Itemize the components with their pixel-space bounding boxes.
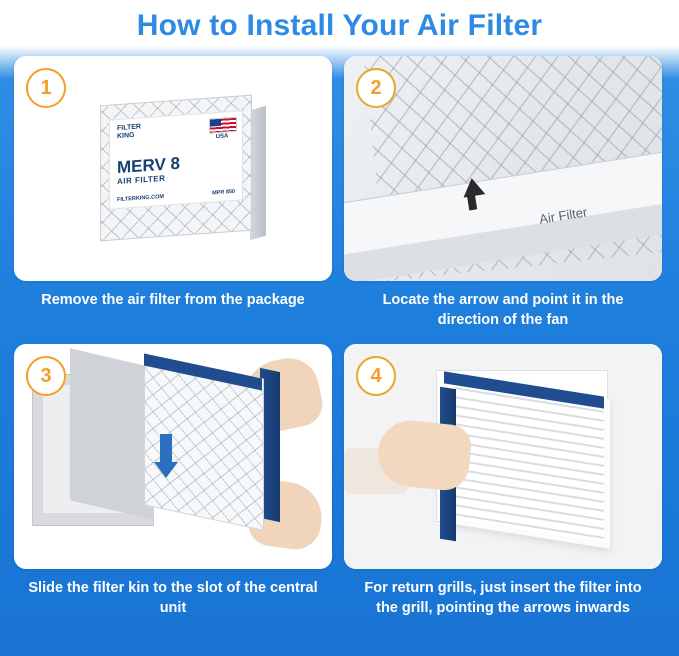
step-1-card: 1 FILTER KING	[14, 56, 332, 281]
step-3-caption: Slide the filter kin to the slot of the …	[23, 578, 323, 618]
step-1-badge: 1	[26, 68, 66, 108]
mpr-text: MPR 850	[212, 189, 235, 197]
usa-flag-block: USA	[209, 117, 235, 142]
merv-block: MERV 8 AIR FILTER	[117, 151, 235, 186]
step-3-badge: 3	[26, 356, 66, 396]
step-4-card: 4	[344, 344, 662, 569]
step-4-badge: 4	[356, 356, 396, 396]
step-1: 1 FILTER KING	[14, 56, 332, 330]
step-2-caption: Locate the arrow and point it in the dir…	[353, 290, 653, 330]
step-3-card: 3	[14, 344, 332, 569]
filter-label: FILTER KING USA MERV 8 AIR FILTE	[109, 110, 243, 209]
website-text: FILTERKING.COM	[117, 194, 164, 203]
filter-box: FILTER KING USA MERV 8 AIR FILTE	[100, 95, 252, 242]
page-title: How to Install Your Air Filter	[0, 0, 679, 46]
step-1-caption: Remove the air filter from the package	[23, 290, 323, 310]
step-4: 4 For return grills, just insert the fil…	[344, 344, 662, 618]
flag-icon	[209, 117, 237, 134]
filter-side-panel	[250, 106, 266, 241]
filter-slot	[70, 348, 154, 519]
step-2-card: 2 Air Filter	[344, 56, 662, 281]
step-2-badge: 2	[356, 68, 396, 108]
brand-line-2: KING	[117, 131, 141, 141]
infographic-page: How to Install Your Air Filter 1 FILTER …	[0, 0, 679, 656]
filter-label-header: FILTER KING USA	[117, 117, 235, 148]
filter-label-footer: FILTERKING.COM MPR 850	[117, 189, 235, 203]
step-4-caption: For return grills, just insert the filte…	[353, 578, 653, 618]
steps-grid: 1 FILTER KING	[14, 56, 665, 618]
insert-arrow-icon	[154, 462, 178, 478]
brand-block: FILTER KING	[117, 123, 141, 141]
step-2: 2 Air Filter Locate the arrow and point …	[344, 56, 662, 330]
step-3: 3 Slide the filter kin	[14, 344, 332, 618]
